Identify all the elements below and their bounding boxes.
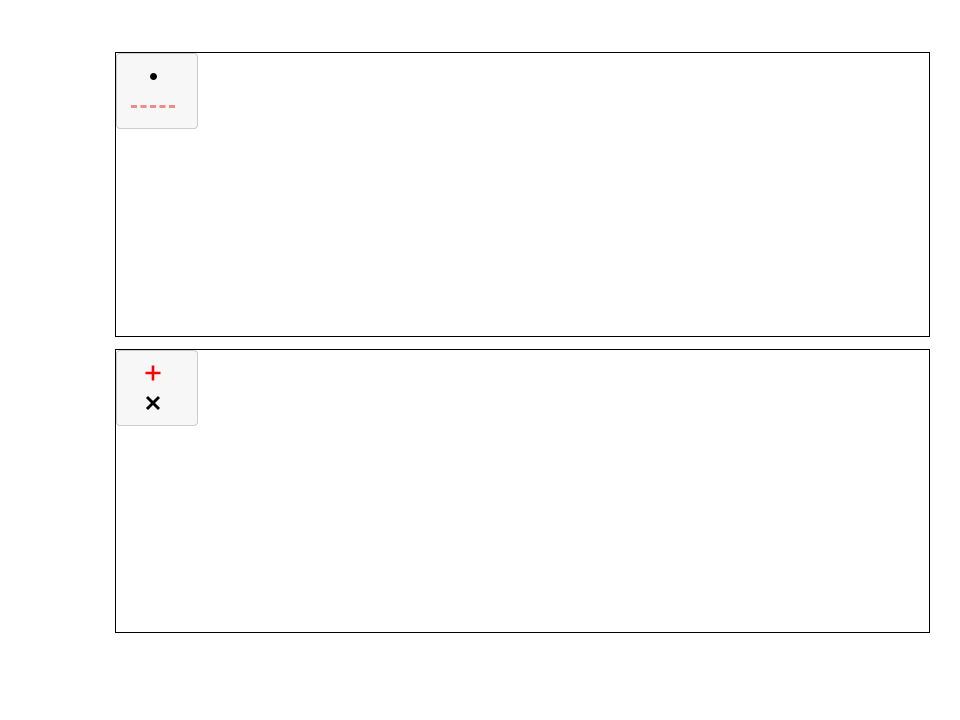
- legend-item-predicted-stars: [127, 388, 185, 418]
- bottom-panel-legend: [116, 350, 198, 426]
- cross-marker-icon: [127, 392, 179, 414]
- dashed-line-marker-icon: [127, 105, 179, 108]
- top-panel-plot-area: [115, 52, 930, 337]
- flux-observing-figure: [0, 0, 960, 720]
- top-panel-legend: [116, 53, 198, 129]
- dot-marker-icon: [127, 73, 179, 80]
- legend-item-threshold: [127, 91, 185, 121]
- plus-marker-icon: [127, 362, 179, 384]
- legend-item-matched-stars: [127, 358, 185, 388]
- legend-item-measurements: [127, 61, 185, 91]
- bottom-panel-plot-area: [115, 349, 930, 633]
